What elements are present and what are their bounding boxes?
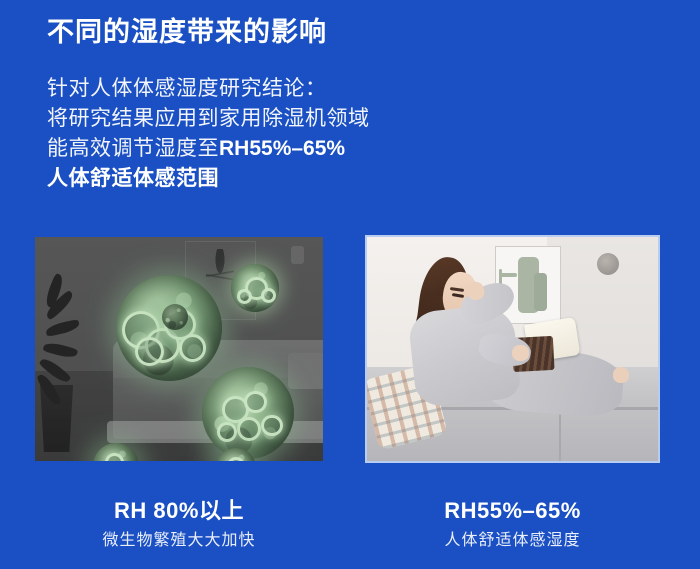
body-line-2: 将研究结果应用到家用除湿机领域	[47, 104, 370, 134]
caption-sub: 微生物繁殖大大加快	[35, 528, 323, 554]
body-line-1: 针对人体体感湿度研究结论：	[47, 74, 370, 104]
germ-sphere-icon	[202, 367, 294, 459]
body-line-3: 能高效调节湿度至RH55%–65%	[47, 134, 370, 164]
caption-main: RH55%–65%	[367, 497, 658, 525]
body-copy: 针对人体体感湿度研究结论： 将研究结果应用到家用除湿机领域 能高效调节湿度至RH…	[47, 74, 370, 194]
body-line-4: 人体舒适体感范围	[47, 164, 370, 194]
caption-high-humidity: RH 80%以上 微生物繁殖大大加快	[35, 497, 323, 554]
bright-room-scene	[367, 237, 658, 461]
comparison-panels	[0, 237, 700, 461]
woman-reading	[393, 253, 632, 450]
body-line-3-prefix: 能高效调节湿度至	[47, 137, 219, 160]
hand-holding-book	[512, 345, 529, 361]
dark-room-scene	[35, 237, 323, 461]
panel-high-humidity-image	[35, 237, 323, 461]
germ-sphere-icon	[162, 304, 188, 330]
foot	[613, 367, 630, 383]
page-title: 不同的湿度带来的影响	[47, 16, 327, 50]
caption-sub: 人体舒适体感湿度	[367, 528, 658, 554]
poster-root: 不同的湿度带来的影响 针对人体体感湿度研究结论： 将研究结果应用到家用除湿机领域…	[0, 0, 700, 569]
body-line-3-highlight: RH55%–65%	[219, 137, 345, 160]
caption-main: RH 80%以上	[35, 497, 323, 525]
panel-comfort-humidity-image	[367, 237, 658, 461]
germ-sphere-icon	[231, 264, 279, 312]
caption-comfort-humidity: RH55%–65% 人体舒适体感湿度	[367, 497, 658, 554]
